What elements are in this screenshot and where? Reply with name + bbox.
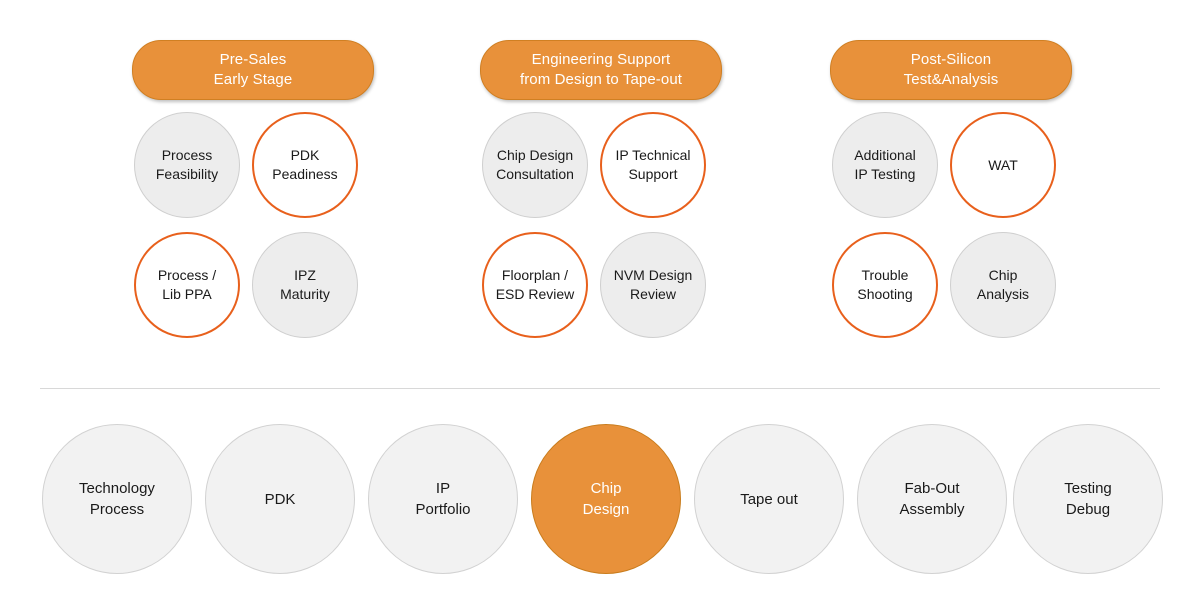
bubble-label-line1: NVM Design (610, 266, 697, 285)
section-divider (40, 388, 1160, 389)
phase-header-engineering-support[interactable]: Engineering Support from Design to Tape-… (480, 40, 722, 100)
bubble-label-line2: Lib PPA (154, 285, 220, 304)
phase-header-line1: Engineering Support (520, 50, 682, 70)
bubble-label-line1: PDK (268, 146, 341, 165)
flow-node-chip-design[interactable]: Chip Design (531, 424, 681, 576)
bubble-floorplan-esd-review[interactable]: Floorplan / ESD Review (482, 232, 588, 338)
bubble-label-line2: Consultation (492, 165, 578, 184)
phase-header-line2: from Design to Tape-out (520, 70, 682, 90)
diagram-canvas: Pre-Sales Early Stage Process Feasibilit… (0, 0, 1200, 609)
bubble-label-line2: Analysis (973, 285, 1033, 304)
bubble-chip-design-consultation[interactable]: Chip Design Consultation (482, 112, 588, 218)
bubble-label-line2: ESD Review (492, 285, 579, 304)
phase-group-engineering-support: Engineering Support from Design to Tape-… (480, 40, 720, 350)
flow-node-circle[interactable]: Fab-Out Assembly (857, 424, 1007, 574)
phase-header-pre-sales[interactable]: Pre-Sales Early Stage (132, 40, 374, 100)
bubble-label-line2: IP Testing (850, 165, 920, 184)
flow-node-label-line2: Process (79, 499, 155, 520)
flow-node-label-line1: Tape out (740, 489, 798, 510)
flow-node-ip-portfolio[interactable]: IP Portfolio (368, 424, 518, 576)
bubble-label-line1: IPZ (276, 266, 334, 285)
phase-header-post-silicon[interactable]: Post-Silicon Test&Analysis (830, 40, 1072, 100)
bubble-label-line2: Peadiness (268, 165, 341, 184)
phase-header-line2: Test&Analysis (904, 70, 999, 90)
flow-node-label-line1: PDK (265, 489, 296, 510)
flow-node-label-line2: Design (583, 499, 630, 520)
flow-node-tape-out[interactable]: Tape out (694, 424, 844, 576)
phase-header-line2: Early Stage (214, 70, 293, 90)
flow-node-circle[interactable]: Testing Debug (1013, 424, 1163, 574)
flow-node-fab-out-assembly[interactable]: Fab-Out Assembly (857, 424, 1007, 576)
flow-node-circle[interactable]: Chip Design (531, 424, 681, 574)
bubble-trouble-shooting[interactable]: Trouble Shooting (832, 232, 938, 338)
flow-node-circle[interactable]: PDK (205, 424, 355, 574)
bubble-process-lib-ppa[interactable]: Process / Lib PPA (134, 232, 240, 338)
flow-node-label-line1: Testing (1064, 478, 1112, 499)
flow-node-label-line1: IP (415, 478, 470, 499)
bubble-label-line1: IP Technical (612, 146, 695, 165)
bubble-process-feasibility[interactable]: Process Feasibility (134, 112, 240, 218)
bubble-label-line1: Chip Design (492, 146, 578, 165)
flow-node-label-line1: Chip (583, 478, 630, 499)
flow-node-label-line2: Portfolio (415, 499, 470, 520)
flow-node-label-line1: Technology (79, 478, 155, 499)
bubble-label-line2: Shooting (853, 285, 916, 304)
bubble-pdk-peadiness[interactable]: PDK Peadiness (252, 112, 358, 218)
bubble-label-line1: Floorplan / (492, 266, 579, 285)
bubble-label-line2: Support (612, 165, 695, 184)
flow-node-testing-debug[interactable]: Testing Debug (1013, 424, 1163, 576)
process-flow: Technology Process PDK IP Portfolio (0, 424, 1200, 584)
bubble-wat[interactable]: WAT (950, 112, 1056, 218)
flow-node-circle[interactable]: Tape out (694, 424, 844, 574)
bubble-chip-analysis[interactable]: Chip Analysis (950, 232, 1056, 338)
bubble-label-line2: Feasibility (152, 165, 222, 184)
bubble-label-line1: Trouble (853, 266, 916, 285)
bubble-nvm-design-review[interactable]: NVM Design Review (600, 232, 706, 338)
bubble-ip-technical-support[interactable]: IP Technical Support (600, 112, 706, 218)
bubble-ipz-maturity[interactable]: IPZ Maturity (252, 232, 358, 338)
bubble-label-line1: Additional (850, 146, 920, 165)
flow-node-label-line2: Assembly (899, 499, 964, 520)
phase-group-post-silicon: Post-Silicon Test&Analysis Additional IP… (830, 40, 1070, 350)
flow-node-label-line1: Fab-Out (899, 478, 964, 499)
flow-node-label-line2: Debug (1064, 499, 1112, 520)
bubble-label-line1: Process (152, 146, 222, 165)
phase-group-pre-sales: Pre-Sales Early Stage Process Feasibilit… (132, 40, 372, 350)
bubble-label-line2: Review (610, 285, 697, 304)
bubble-label-line2: Maturity (276, 285, 334, 304)
flow-node-pdk[interactable]: PDK (205, 424, 355, 576)
bubble-label-line1: WAT (984, 156, 1022, 175)
flow-node-technology-process[interactable]: Technology Process (42, 424, 192, 576)
flow-node-circle[interactable]: IP Portfolio (368, 424, 518, 574)
flow-node-circle[interactable]: Technology Process (42, 424, 192, 574)
bubble-label-line1: Process / (154, 266, 220, 285)
bubble-additional-ip-testing[interactable]: Additional IP Testing (832, 112, 938, 218)
phase-header-line1: Post-Silicon (904, 50, 999, 70)
bubble-label-line1: Chip (973, 266, 1033, 285)
phase-header-line1: Pre-Sales (214, 50, 293, 70)
